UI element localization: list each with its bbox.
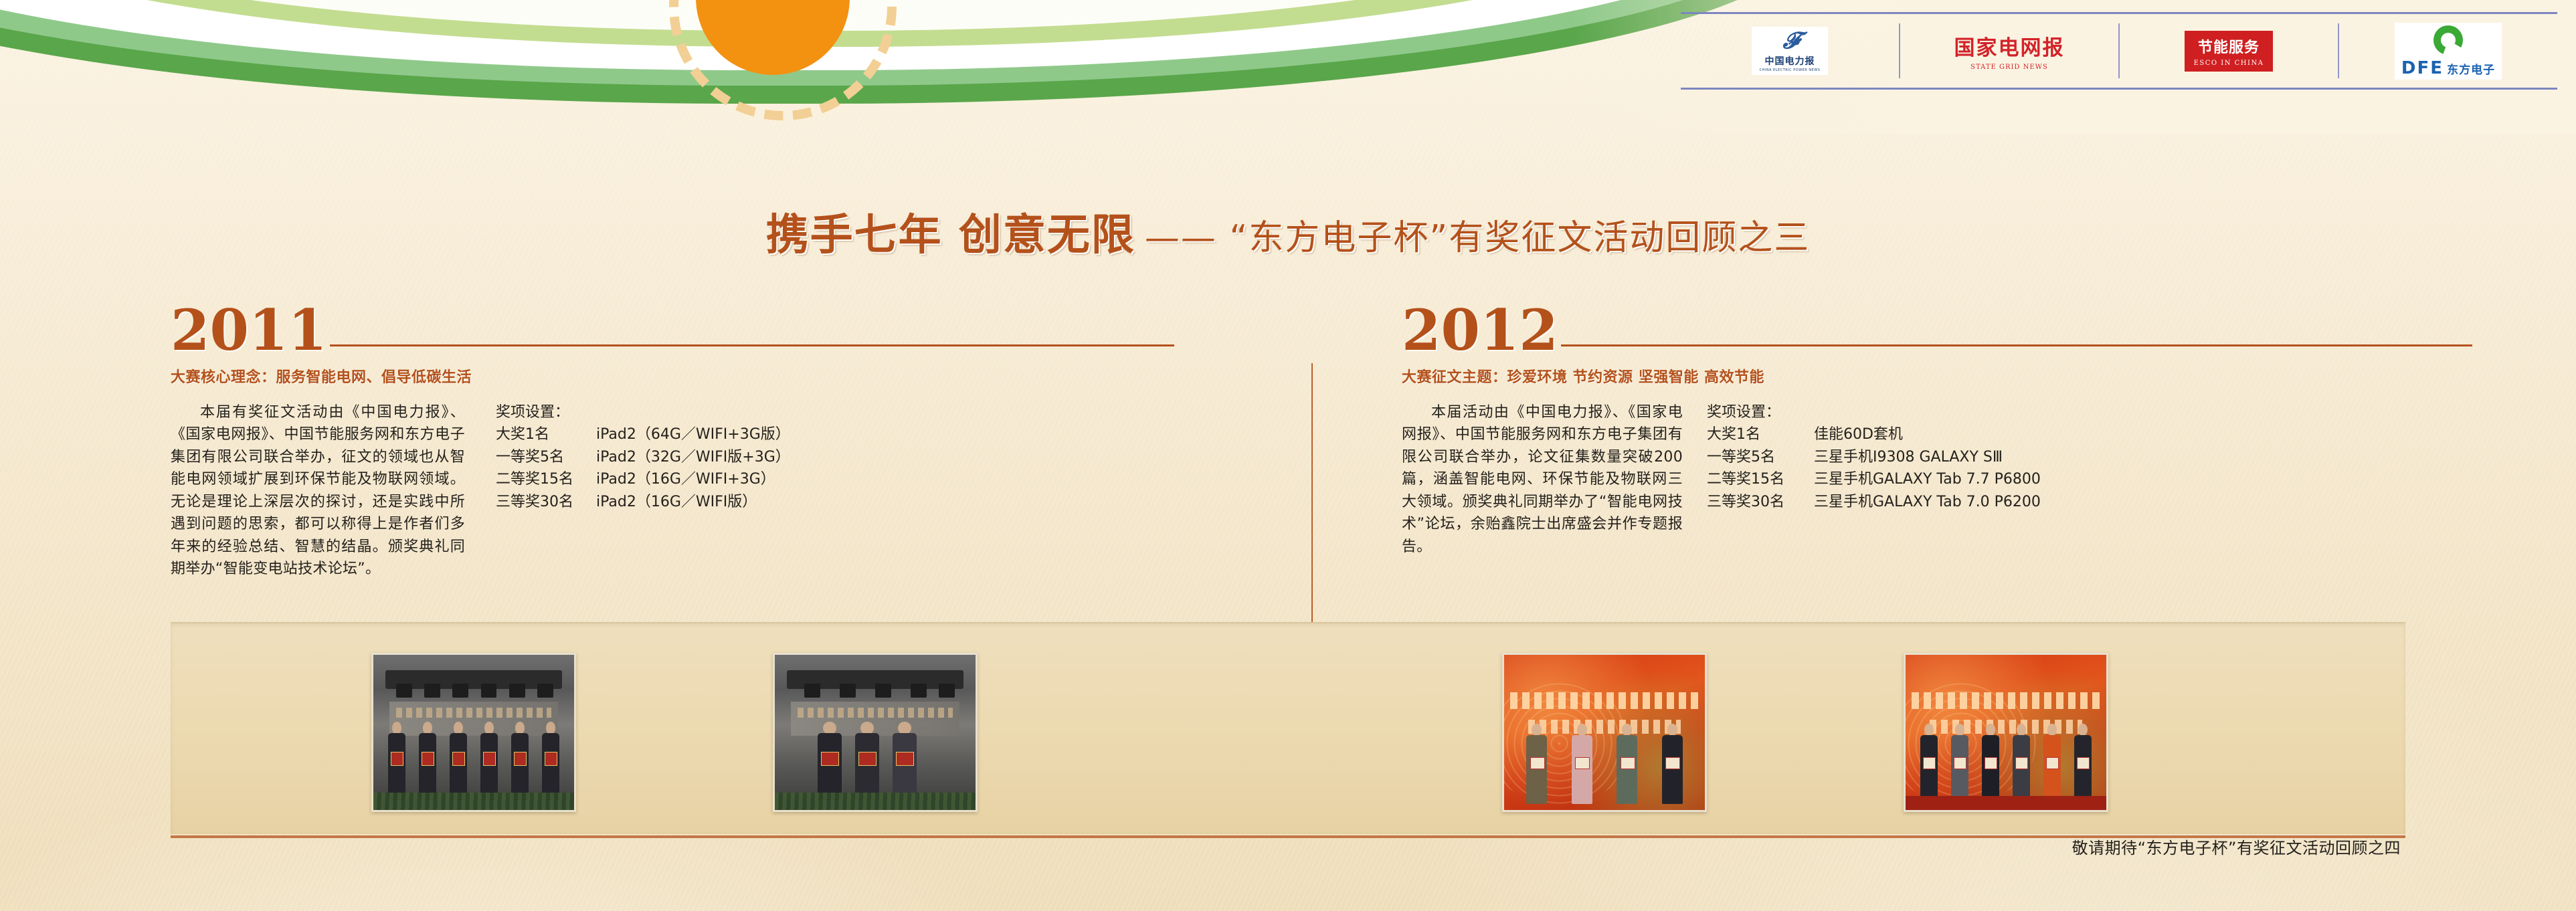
- sponsor-logo-bar: 𝓕 中国电力报 CHINA ELECTRIC POWER NEWS 国家电网报 …: [1681, 12, 2557, 90]
- dfe-logo-cn: 东方电子: [2447, 64, 2495, 77]
- table-row: 一等奖5名 iPad2（32G／WIFI版+3G）: [496, 446, 790, 468]
- stage-banner: [1510, 692, 1699, 710]
- section-2011-year-row: 2011: [171, 294, 1174, 356]
- section-2011-year-rule: [330, 344, 1174, 346]
- section-2011-body: 本届有奖征文活动由《中国电力报》、《国家电网报》、中国节能服务网和东方电子集团有…: [171, 401, 1174, 581]
- award-label: 三等奖30名: [496, 491, 596, 513]
- photo-background: [1504, 655, 1705, 810]
- table-row: 二等奖15名 三星手机GALAXY Tab 7.7 P6800: [1707, 468, 2041, 490]
- table-row: 三等奖30名 三星手机GALAXY Tab 7.0 P6200: [1707, 491, 2041, 513]
- award-prize: 三星手机GALAXY Tab 7.7 P6800: [1814, 468, 2041, 490]
- section-2012-year-row: 2012: [1402, 294, 2472, 356]
- section-2012-awards: 奖项设置： 大奖1名 佳能60D套机 一等奖5名 三星手机I9308 GALAX…: [1707, 401, 2041, 558]
- cepn-mark-icon: 𝓕: [1782, 29, 1797, 52]
- photo-2012-award-winners: [1904, 653, 2108, 812]
- stage-foliage: [775, 793, 976, 810]
- section-2012-year: 2012: [1402, 304, 1558, 356]
- dfe-logo-en: DFE: [2401, 58, 2444, 78]
- award-recipients: [811, 711, 923, 801]
- esco-logo-cn: 节能服务: [2198, 35, 2260, 57]
- award-label: 一等奖5名: [496, 446, 596, 468]
- page-title-bold: 携手七年 创意无限: [766, 211, 1135, 260]
- photo-background: [775, 655, 976, 810]
- award-prize: iPad2（32G／WIFI版+3G）: [596, 446, 790, 468]
- section-2011-awards-table: 大奖1名 iPad2（64G／WIFI+3G版） 一等奖5名 iPad2（32G…: [496, 423, 790, 513]
- photo-background: [373, 655, 574, 810]
- photo-2012-award-ceremony: [1502, 653, 1707, 812]
- cepn-logo-en: CHINA ELECTRIC POWER NEWS: [1760, 68, 1821, 72]
- photo-strip: [171, 622, 2405, 834]
- sponsor-logo-state-grid-news: 国家电网报 STATE GRID NEWS: [1900, 23, 2120, 78]
- section-divider: [1311, 363, 1313, 625]
- sgn-logo-cn: 国家电网报: [1954, 31, 2065, 61]
- page-title: 携手七年 创意无限—— “东方电子杯”有奖征文活动回顾之三: [0, 201, 2576, 262]
- section-2011-awards: 奖项设置： 大奖1名 iPad2（64G／WIFI+3G版） 一等奖5名 iPa…: [496, 401, 790, 581]
- section-2011-year: 2011: [171, 304, 327, 356]
- section-2012-subtitle: 大赛征文主题：珍爱环境 节约资源 坚强智能 高效节能: [1402, 365, 2472, 387]
- table-row: 二等奖15名 iPad2（16G／WIFI+3G）: [496, 468, 790, 490]
- section-2012-awards-table: 大奖1名 佳能60D套机 一等奖5名 三星手机I9308 GALAXY SⅢ 二…: [1707, 423, 2041, 513]
- section-2011-awards-heading: 奖项设置：: [496, 401, 790, 423]
- award-prize: 三星手机GALAXY Tab 7.0 P6200: [1814, 491, 2041, 513]
- section-2012-awards-heading: 奖项设置：: [1707, 401, 2041, 423]
- footer-note: 敬请期待“东方电子杯”有奖征文活动回顾之四: [0, 835, 2576, 858]
- section-2012-year-rule: [1561, 344, 2472, 346]
- award-recipients: [1914, 717, 2098, 804]
- stage-truss: [385, 670, 562, 689]
- section-2012: 2012 大赛征文主题：珍爱环境 节约资源 坚强智能 高效节能 本届活动由《中国…: [1402, 294, 2472, 558]
- award-label: 二等奖15名: [496, 468, 596, 490]
- award-prize: iPad2（64G／WIFI+3G版）: [596, 423, 790, 445]
- award-prize: iPad2（16G／WIFI版）: [596, 491, 790, 513]
- stage-foliage: [373, 793, 574, 810]
- dfe-swirl-icon: [2433, 25, 2463, 55]
- sponsor-logo-china-electric-power-news: 𝓕 中国电力报 CHINA ELECTRIC POWER NEWS: [1681, 23, 1900, 78]
- stage-truss: [787, 670, 963, 689]
- award-prize: 佳能60D套机: [1814, 423, 2041, 445]
- award-recipients: [1514, 717, 1695, 804]
- section-2012-body: 本届活动由《中国电力报》、《国家电网报》、中国节能服务网和东方电子集团有限公司联…: [1402, 401, 2472, 558]
- award-label: 三等奖30名: [1707, 491, 1814, 513]
- sponsor-logo-esco-in-china: 节能服务 ESCO IN CHINA: [2120, 23, 2339, 78]
- sponsor-logo-dongfang-electronics: DFE 东方电子: [2339, 23, 2557, 78]
- award-label: 大奖1名: [1707, 423, 1814, 445]
- section-2012-paragraph: 本届活动由《中国电力报》、《国家电网报》、中国节能服务网和东方电子集团有限公司联…: [1402, 401, 1683, 558]
- award-recipients: [381, 711, 566, 801]
- award-prize: 三星手机I9308 GALAXY SⅢ: [1814, 446, 2041, 468]
- esco-logo-en: ESCO IN CHINA: [2194, 60, 2264, 67]
- section-2011: 2011 大赛核心理念：服务智能电网、倡导低碳生活 本届有奖征文活动由《中国电力…: [171, 294, 1174, 581]
- table-row: 三等奖30名 iPad2（16G／WIFI版）: [496, 491, 790, 513]
- award-label: 一等奖5名: [1707, 446, 1814, 468]
- award-prize: iPad2（16G／WIFI+3G）: [596, 468, 790, 490]
- section-2011-paragraph: 本届有奖征文活动由《中国电力报》、《国家电网报》、中国节能服务网和东方电子集团有…: [171, 401, 465, 581]
- photo-2011-award-group: [371, 653, 576, 812]
- stage-banner: [1912, 692, 2100, 710]
- page-title-subtitle: —— “东方电子杯”有奖征文活动回顾之三: [1145, 218, 1810, 258]
- table-row: 大奖1名 iPad2（64G／WIFI+3G版）: [496, 423, 790, 445]
- cepn-logo-cn: 中国电力报: [1764, 54, 1815, 68]
- table-row: 一等奖5名 三星手机I9308 GALAXY SⅢ: [1707, 446, 2041, 468]
- poster-canvas: 𝓕 中国电力报 CHINA ELECTRIC POWER NEWS 国家电网报 …: [0, 0, 2576, 911]
- photo-2011-award-stage: [773, 653, 978, 812]
- photo-background: [1906, 655, 2106, 810]
- red-carpet: [1906, 796, 2106, 810]
- award-label: 大奖1名: [496, 423, 596, 445]
- sgn-logo-en: STATE GRID NEWS: [1970, 64, 2048, 71]
- section-2011-subtitle: 大赛核心理念：服务智能电网、倡导低碳生活: [171, 365, 1174, 387]
- award-label: 二等奖15名: [1707, 468, 1814, 490]
- table-row: 大奖1名 佳能60D套机: [1707, 423, 2041, 445]
